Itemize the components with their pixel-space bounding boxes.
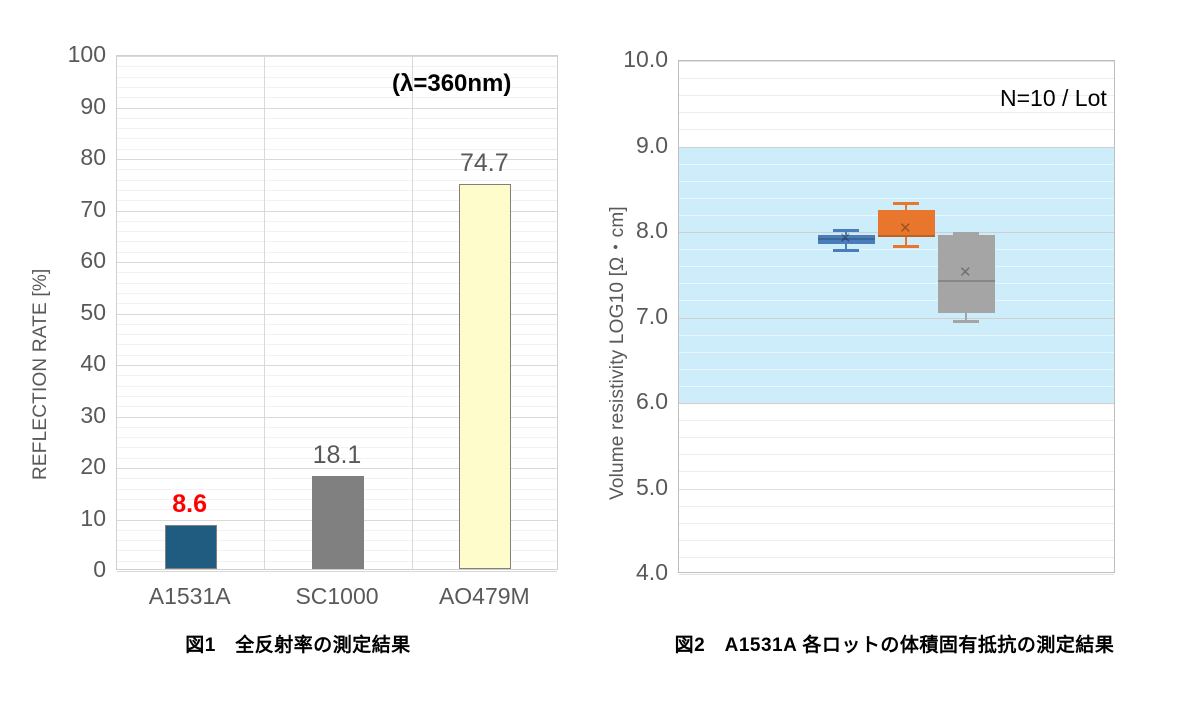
spec-band-shading [679,147,1114,404]
gridline-minor [117,180,557,181]
gridline-major [117,56,557,57]
gridline-minor [679,249,1114,250]
y-tick-label: 30 [10,404,106,427]
y-axis-ticks-left: 1009080706050403020100 [0,0,106,704]
figure-2-volume-resistivity: Volume resistivity LOG10 [Ω・cm] 10.09.08… [596,0,1193,704]
gridline-major [679,147,1114,148]
figure-1-reflection-rate: REFLECTION RATE [%] 10090807060504030201… [0,0,596,704]
bar-value-label: 8.6 [140,490,240,519]
gridline-minor [679,266,1114,267]
x-axis-category-labels-left: A1531ASC1000AO479M [116,583,558,623]
gridline-minor [679,198,1114,199]
bar-sc1000 [312,476,364,569]
y-tick-label: 90 [10,95,106,118]
y-tick-label: 8.0 [602,219,668,242]
mean-marker-x: ✕ [959,265,972,280]
gridline-minor [679,78,1114,79]
gridline-minor [679,129,1114,130]
y-tick-label: 40 [10,352,106,375]
whisker-cap-lower [893,245,919,248]
y-tick-label: 0 [10,558,106,581]
bar-a1531a [165,525,217,569]
gridline-minor [679,540,1114,541]
gridline-minor [679,454,1114,455]
gridline-minor [679,471,1114,472]
bar-ao479m [459,184,511,569]
y-tick-label: 10.0 [602,48,668,71]
gridline-major [679,574,1114,575]
gridline-minor [679,523,1114,524]
y-tick-label: 70 [10,198,106,221]
gridline-minor [679,369,1114,370]
y-tick-label: 7.0 [602,305,668,328]
bar-value-label: 18.1 [287,441,387,470]
y-axis-ticks-right: 10.09.08.07.06.05.04.0 [596,0,668,704]
gridline-major [117,108,557,109]
gridline-minor [117,118,557,119]
whisker-cap-lower [833,249,859,252]
gridline-minor [679,420,1114,421]
mean-marker-x: ✕ [899,221,912,236]
x-tick-label: AO479M [404,583,564,610]
gridline-minor [679,352,1114,353]
y-tick-label: 5.0 [602,476,668,499]
gridline-minor [117,128,557,129]
sample-size-annotation: N=10 / Lot [1000,85,1107,112]
gridline-minor [679,437,1114,438]
x-tick-label: A1531A [110,583,270,610]
gridline-major [117,571,557,572]
gridline-minor [679,181,1114,182]
category-separator [264,56,265,569]
gridline-major [679,489,1114,490]
gridline-minor [679,112,1114,113]
category-separator [412,56,413,569]
x-tick-label: SC1000 [257,583,417,610]
y-tick-label: 4.0 [602,561,668,584]
gridline-minor [679,164,1114,165]
gridline-minor [679,506,1114,507]
gridline-major [679,318,1114,319]
y-tick-label: 20 [10,455,106,478]
gridline-minor [679,300,1114,301]
plot-area-volume-resistivity: ✕✕✕ [678,60,1115,573]
y-tick-label: 6.0 [602,390,668,413]
whisker-cap-upper [893,202,919,205]
y-tick-label: 10 [10,507,106,530]
gridline-minor [117,66,557,67]
gridline-major [679,61,1114,62]
wavelength-annotation: (λ=360nm) [392,70,511,98]
bar-value-label: 74.7 [434,149,534,178]
y-tick-label: 50 [10,301,106,324]
gridline-minor [679,386,1114,387]
y-tick-label: 80 [10,146,106,169]
figure-1-caption: 図1 全反射率の測定結果 [0,630,596,657]
gridline-major [679,403,1114,404]
y-tick-label: 60 [10,249,106,272]
y-tick-label: 100 [10,43,106,66]
gridline-minor [117,138,557,139]
whisker-cap-lower [953,320,979,323]
gridline-minor [679,283,1114,284]
mean-marker-x: ✕ [839,231,852,246]
y-tick-label: 9.0 [602,134,668,157]
gridline-minor [679,335,1114,336]
gridline-minor [679,557,1114,558]
figure-2-caption: 図2 A1531A 各ロットの体積固有抵抗の測定結果 [596,630,1193,657]
